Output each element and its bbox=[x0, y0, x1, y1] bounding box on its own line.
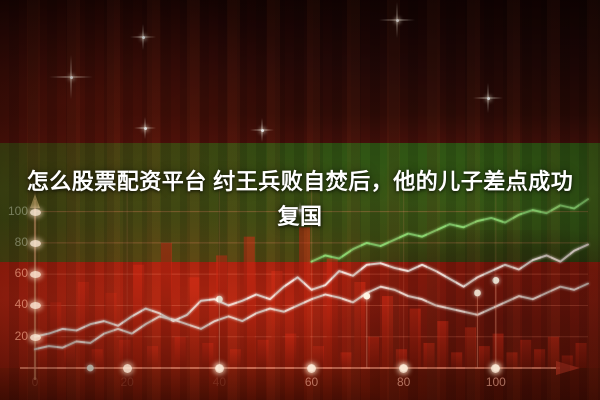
marker-dot bbox=[363, 293, 370, 300]
chart-bar bbox=[119, 340, 130, 368]
chart-bar bbox=[92, 349, 103, 368]
chart-bar bbox=[299, 227, 310, 368]
chart-bar bbox=[244, 237, 255, 368]
chart-bar bbox=[465, 327, 476, 368]
chart-bar bbox=[520, 340, 531, 368]
marker-dot bbox=[492, 277, 499, 284]
chart-bar bbox=[258, 340, 269, 368]
chart-bar bbox=[133, 265, 144, 368]
chart-bar bbox=[175, 337, 186, 368]
chart-bar bbox=[313, 346, 324, 368]
chart-bar bbox=[216, 255, 227, 368]
chart-bar bbox=[36, 334, 47, 368]
chart-bar bbox=[382, 296, 393, 368]
chart-bar bbox=[410, 309, 421, 368]
marker-dot bbox=[400, 365, 407, 372]
chart-bar bbox=[534, 349, 545, 368]
chart-bar bbox=[506, 352, 517, 368]
chart-bar bbox=[50, 302, 61, 368]
marker-dot bbox=[308, 365, 315, 372]
chart-bar bbox=[576, 343, 587, 368]
chart-bar bbox=[493, 334, 504, 368]
chart-bar bbox=[451, 352, 462, 368]
marker-dot bbox=[216, 296, 223, 303]
chart-bar bbox=[368, 337, 379, 368]
chart-bar bbox=[479, 346, 490, 368]
chart-bar bbox=[341, 352, 352, 368]
chart-bar bbox=[64, 345, 75, 368]
chart-bar bbox=[285, 334, 296, 368]
image-canvas: 20406080100020406080100 怎么股票配资平台 纣王兵败自焚后… bbox=[0, 0, 600, 400]
chart-bar bbox=[437, 321, 448, 368]
chart-bar bbox=[202, 343, 213, 368]
chart-bar bbox=[423, 343, 434, 368]
chart-bar bbox=[188, 277, 199, 368]
chart-bar bbox=[161, 243, 172, 368]
chart-bar bbox=[230, 349, 241, 368]
chart-bar bbox=[147, 346, 158, 368]
marker-dot bbox=[474, 290, 481, 297]
chart-bar bbox=[271, 271, 282, 368]
headline-text: 怎么股票配资平台 纣王兵败自焚后，他的儿子差点成功复国 bbox=[18, 164, 582, 234]
marker-dot bbox=[87, 365, 94, 372]
